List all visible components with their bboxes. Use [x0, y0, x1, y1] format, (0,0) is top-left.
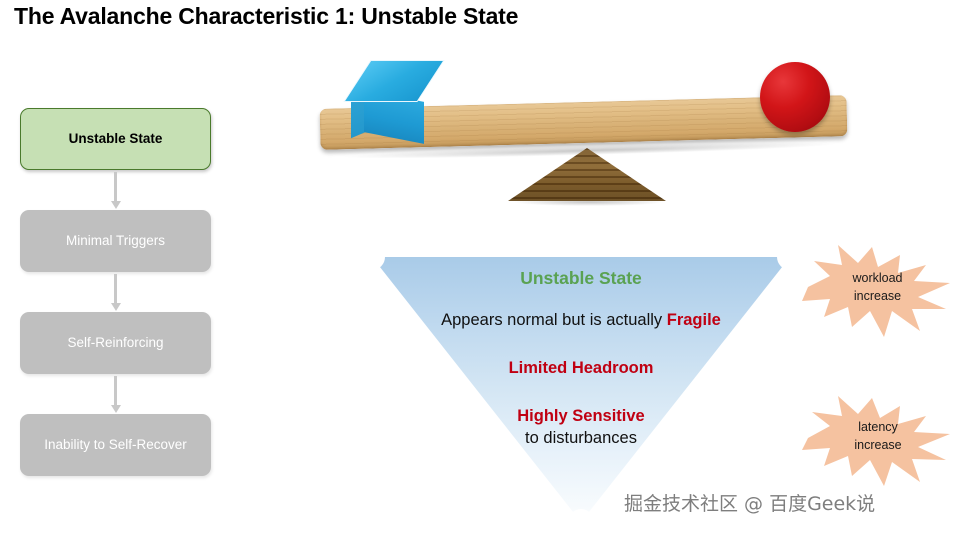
flow-arrow-1-icon	[114, 172, 117, 202]
triangle-heading: Unstable State	[372, 268, 790, 289]
triangle-line-1-emphasis: Fragile	[667, 311, 721, 329]
flow-step-label: Unstable State	[69, 131, 163, 147]
flow-step-self-reinforcing[interactable]: Self-Reinforcing	[20, 312, 211, 374]
starburst-label: workload increase	[800, 269, 955, 305]
starburst-label-line1: latency	[802, 418, 954, 436]
flow-step-label: Self-Reinforcing	[67, 335, 163, 351]
slide-canvas: The Avalanche Characteristic 1: Unstable…	[0, 0, 960, 540]
blue-cube-icon	[343, 60, 443, 146]
starburst-label-line2: increase	[802, 436, 954, 454]
flow-step-inability-to-self-recover[interactable]: Inability to Self-Recover	[20, 414, 211, 476]
cube-top-face	[343, 60, 444, 102]
starburst-latency-increase: latency increase	[802, 392, 954, 488]
triangle-line-1: Appears normal but is actually Fragile	[372, 311, 790, 330]
page-title: The Avalanche Characteristic 1: Unstable…	[14, 3, 518, 30]
starburst-label-line2: increase	[800, 287, 955, 305]
flow-step-label: Minimal Triggers	[66, 233, 165, 249]
flow-arrow-3-icon	[114, 376, 117, 406]
triangle-text-block: Unstable State Appears normal but is act…	[372, 257, 790, 522]
flow-step-label: Inability to Self-Recover	[44, 437, 187, 453]
triangle-line-1-prefix: Appears normal but is actually	[441, 311, 667, 329]
red-sphere-icon	[760, 62, 830, 132]
seesaw-illustration	[310, 50, 870, 210]
starburst-label: latency increase	[802, 418, 954, 454]
triangle-line-2: Limited Headroom	[372, 359, 790, 378]
flow-arrow-2-icon	[114, 274, 117, 304]
watermark: 掘金技术社区 @ 百度Geek说	[624, 489, 875, 516]
triangle-line-3-suffix: to disturbances	[372, 429, 790, 448]
triangle-line-3-emphasis: Highly Sensitive	[372, 407, 790, 426]
flow-step-minimal-triggers[interactable]: Minimal Triggers	[20, 210, 211, 272]
starburst-workload-increase: workload increase	[800, 243, 955, 339]
flow-step-unstable-state[interactable]: Unstable State	[20, 108, 211, 170]
starburst-label-line1: workload	[800, 269, 955, 287]
